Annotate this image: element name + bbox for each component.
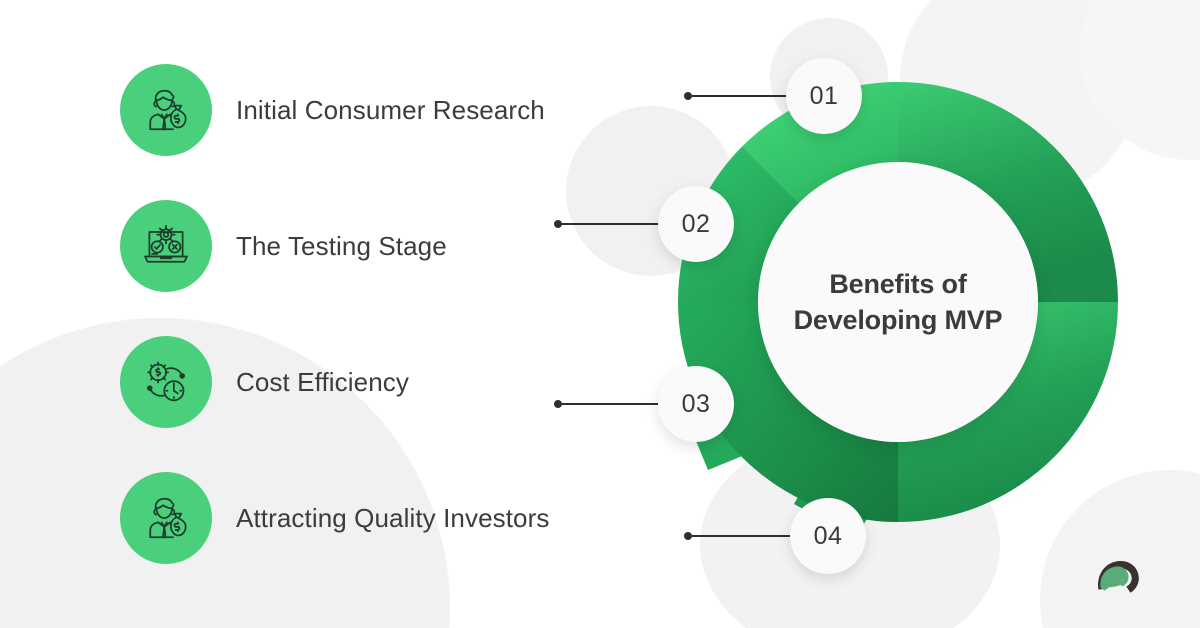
connector-line-04: [684, 528, 799, 544]
connector-dot-start: [684, 532, 692, 540]
hub-title-line-2: Developing MVP: [794, 302, 1003, 338]
list-item-label: Cost Efficiency: [236, 367, 409, 398]
connector-dot-start: [684, 92, 692, 100]
hub-title-line-1: Benefits of: [794, 266, 1003, 302]
segmented-donut-chart: Benefits of Developing MVP: [648, 52, 1148, 552]
connector-stroke: [692, 95, 786, 97]
spartan-helmet-logo: [1084, 536, 1150, 602]
connector-dot-start: [554, 400, 562, 408]
connector-stroke: [692, 535, 791, 537]
gear-dollar-clock-icon: [120, 336, 212, 428]
infographic-canvas: Initial Consumer Research The: [0, 0, 1200, 628]
list-item[interactable]: The Testing Stage: [120, 198, 640, 294]
connector-line-01: [684, 88, 794, 104]
benefits-list: Initial Consumer Research The: [120, 62, 640, 606]
connector-dot-start: [554, 220, 562, 228]
list-item[interactable]: Cost Efficiency: [120, 334, 640, 430]
connector-stroke: [562, 403, 668, 405]
list-item[interactable]: Attracting Quality Investors: [120, 470, 640, 566]
hub-circle: Benefits of Developing MVP: [758, 162, 1038, 442]
step-number-bubble-04[interactable]: 04: [790, 498, 866, 574]
businessman-money-bag-icon: [120, 472, 212, 564]
list-item-label: The Testing Stage: [236, 231, 447, 262]
step-number-bubble-02[interactable]: 02: [658, 186, 734, 262]
step-number-bubble-01[interactable]: 01: [786, 58, 862, 134]
laptop-gear-test-icon: [120, 200, 212, 292]
list-item-label: Initial Consumer Research: [236, 95, 545, 126]
step-number-bubble-03[interactable]: 03: [658, 366, 734, 442]
businessman-money-bag-icon: [120, 64, 212, 156]
connector-stroke: [562, 223, 668, 225]
list-item[interactable]: Initial Consumer Research: [120, 62, 640, 158]
list-item-label: Attracting Quality Investors: [236, 503, 549, 534]
page-title: Benefits of Developing MVP: [794, 266, 1003, 339]
